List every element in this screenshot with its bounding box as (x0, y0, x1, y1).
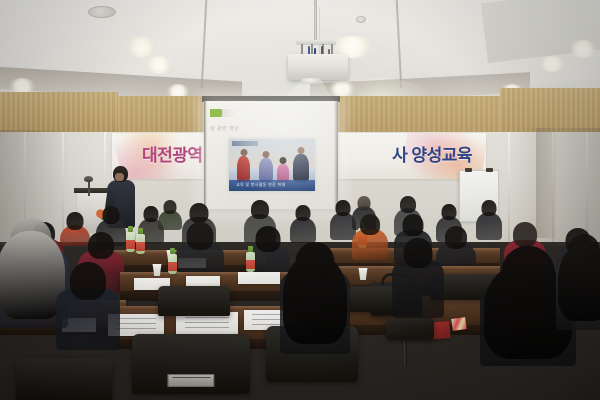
person-head (336, 200, 351, 216)
person-head (400, 196, 416, 213)
person-head (70, 262, 106, 300)
person-long-hair (558, 244, 600, 321)
snack-package (451, 317, 467, 331)
smoke-detector-icon (356, 16, 366, 23)
chair-label-plate (167, 374, 214, 387)
attendee-mid-5 (352, 214, 388, 260)
banner-text-left: 대전광역 (142, 141, 203, 166)
downlight (568, 40, 598, 58)
drink-bottle (126, 226, 135, 252)
person-head (88, 232, 114, 259)
projection-screen: 상 관련 영상 교육 및 봉사활동 현장 취재 (204, 101, 338, 209)
person-head (296, 205, 311, 221)
projector-mount-pole (314, 0, 317, 42)
microphone-icon (84, 176, 93, 182)
projector-lens (300, 78, 320, 84)
person-head (403, 214, 424, 236)
person-head (144, 206, 159, 222)
person-head (256, 226, 281, 252)
drink-bottle (136, 228, 145, 254)
microphone-stand (88, 180, 90, 196)
person-head (67, 212, 84, 230)
coat-on-table (386, 318, 434, 340)
person-head (190, 203, 209, 223)
ceiling-projector (288, 54, 348, 80)
chair (16, 358, 112, 400)
attendee-front-4 (392, 238, 444, 318)
downlight (126, 36, 156, 58)
person-head (103, 206, 120, 224)
person-long-hair (283, 254, 347, 344)
person-torso (392, 260, 444, 318)
person-head (482, 200, 497, 216)
chair (158, 286, 230, 316)
person-torso (476, 212, 502, 240)
person-head (358, 196, 371, 210)
person-head (442, 204, 457, 220)
person-head (445, 226, 467, 249)
attendee-front-3 (280, 242, 350, 354)
person-head (513, 222, 537, 247)
attendee-back-12 (476, 200, 502, 240)
downlight (538, 56, 566, 72)
drink-bottle (168, 248, 177, 274)
banner-text-right: 사 양성교육 (392, 141, 472, 166)
attendee-front-2 (56, 262, 120, 350)
attendee-back-7 (290, 205, 316, 243)
person-head (251, 200, 269, 219)
person-head (187, 222, 214, 250)
person-head (164, 200, 177, 214)
person-head (404, 238, 433, 268)
attendee-front-6 (556, 234, 600, 330)
smoke-detector-icon (88, 6, 116, 18)
chair (132, 334, 250, 394)
seminar-room-photo: 대전광역 사 양성교육 상 관련 영상 교육 및 봉사활동 현장 취재 (0, 0, 600, 400)
person-head (360, 214, 380, 235)
screen-glare (204, 101, 338, 209)
handout-paper (238, 272, 280, 284)
downlight (146, 56, 172, 74)
drink-bottle (246, 246, 255, 272)
